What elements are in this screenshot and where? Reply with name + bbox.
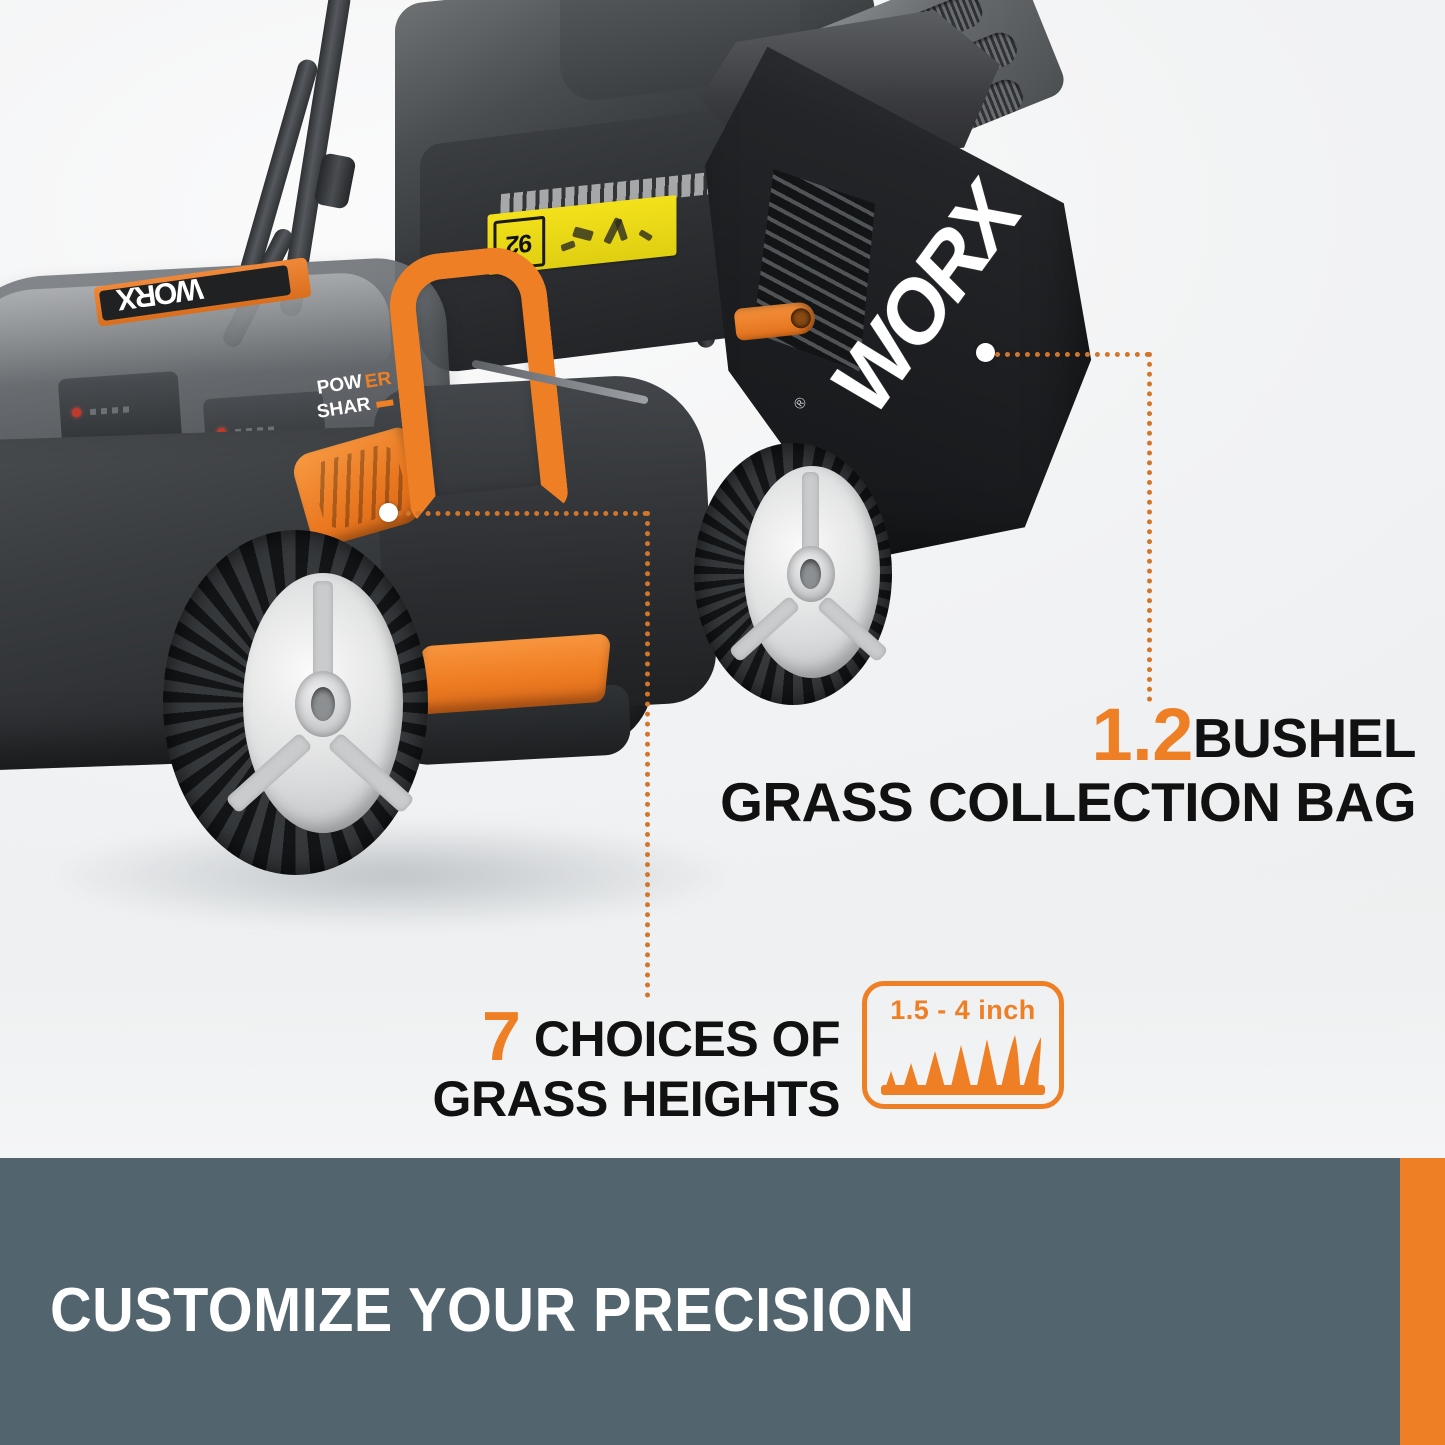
- front-wheel-hub: [744, 466, 880, 678]
- product-feature-graphic: 92 WORX ®: [0, 0, 1445, 1445]
- callout-heights-line1-text: CHOICES OF: [534, 1011, 840, 1067]
- callout-bag-line1: 1.2BUSHEL: [716, 697, 1416, 774]
- callout-heights-line1: 7 CHOICES OF: [300, 1000, 840, 1073]
- leader-line-heights-vertical: [645, 511, 650, 998]
- product-photo: 92 WORX ®: [0, 0, 1445, 1158]
- banner-headline: CUSTOMIZE YOUR PRECISION: [50, 1275, 914, 1346]
- callout-heights-line2: GRASS HEIGHTS: [300, 1073, 840, 1125]
- callout-bag-line2: GRASS COLLECTION BAG: [716, 774, 1416, 831]
- svg-text:ER: ER: [363, 372, 393, 393]
- grass-blades-icon: [881, 1033, 1045, 1095]
- leader-line-bag-horizontal: [995, 352, 1150, 357]
- leader-anchor-heights: [379, 503, 398, 522]
- power-share-logo: POW ER SHAR: [316, 372, 402, 430]
- rear-wheel-hub: [243, 573, 403, 833]
- callout-bag-number: 1.2: [1092, 693, 1193, 776]
- front-bumper: [415, 633, 612, 715]
- grass-height-range-label: 1.5 - 4 inch: [867, 995, 1059, 1026]
- callout-grass-heights: 7 CHOICES OF GRASS HEIGHTS: [300, 1000, 840, 1125]
- callout-bag-line1-text: BUSHEL: [1193, 707, 1416, 769]
- leader-anchor-bag: [976, 343, 995, 362]
- lift-handle-grip: [384, 242, 569, 524]
- leader-line-bag-vertical: [1147, 352, 1152, 702]
- svg-text:SHAR: SHAR: [316, 394, 372, 423]
- callout-grass-collection-bag: 1.2BUSHEL GRASS COLLECTION BAG: [716, 697, 1416, 831]
- banner-accent-bar: [1400, 1158, 1445, 1445]
- leader-line-heights-horizontal: [396, 511, 648, 516]
- grass-height-badge: 1.5 - 4 inch: [862, 981, 1064, 1109]
- callout-heights-number: 7: [482, 997, 520, 1075]
